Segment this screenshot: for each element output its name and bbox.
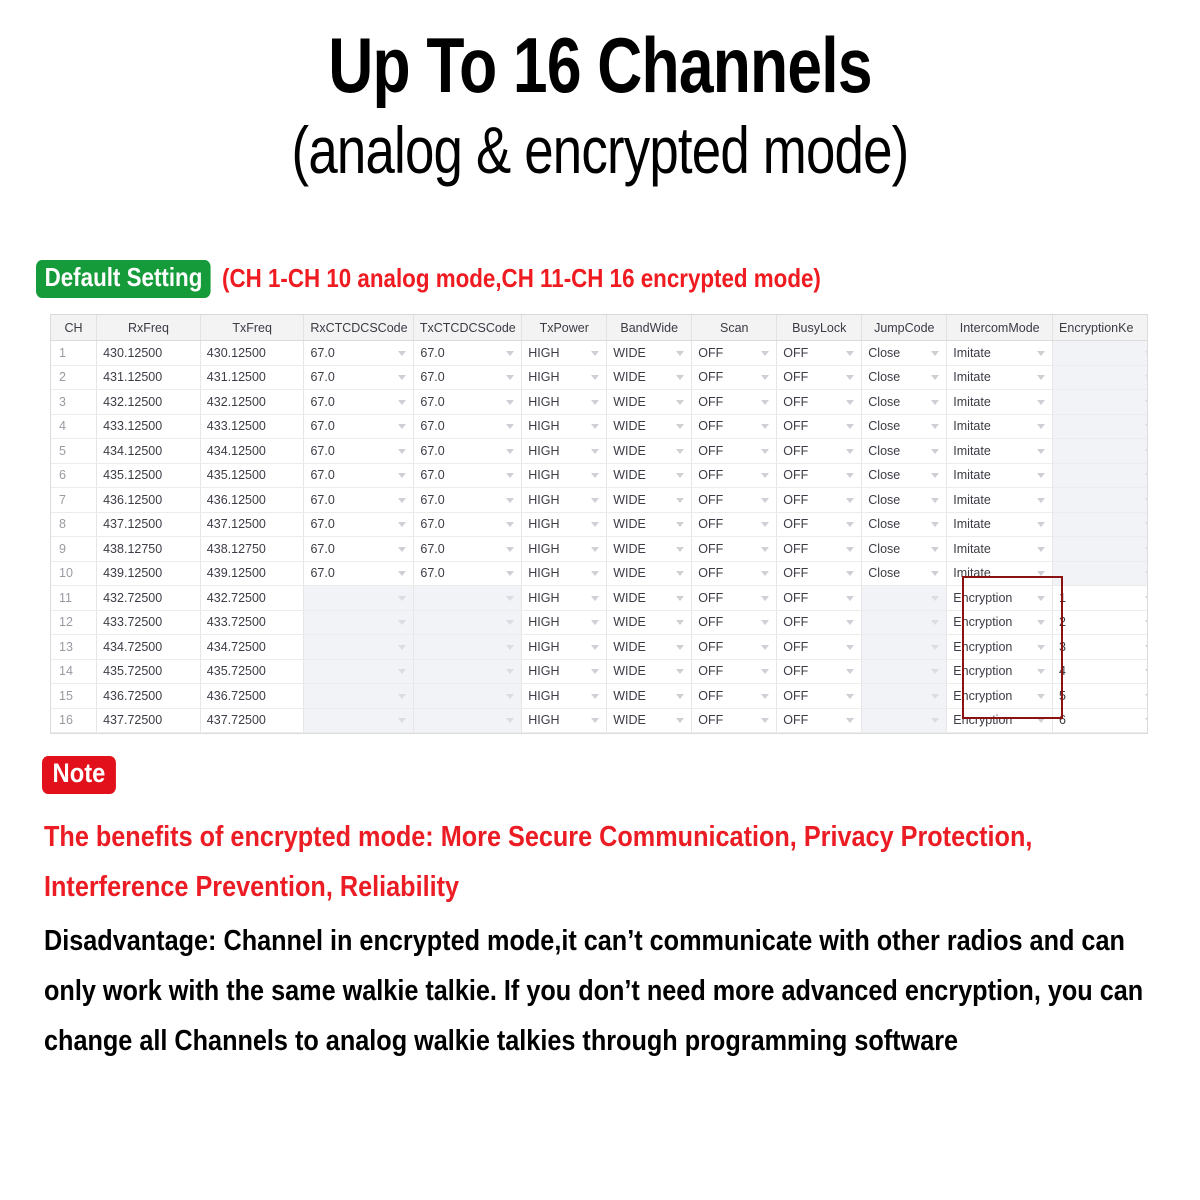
cell-rxfreq[interactable]: 435.12500 <box>97 463 201 488</box>
cell-encryptionkey[interactable] <box>1053 390 1148 415</box>
chevron-down-icon[interactable] <box>676 547 684 552</box>
chevron-down-icon[interactable] <box>506 571 514 576</box>
cell-scan[interactable]: OFF <box>692 365 777 390</box>
cell-busylock[interactable]: OFF <box>777 537 862 562</box>
table-row[interactable]: 15436.72500436.72500HIGHWIDEOFFOFFEncryp… <box>51 684 1148 709</box>
cell-rxctcdcscode[interactable]: 67.0 <box>304 439 414 464</box>
chevron-down-icon[interactable] <box>398 571 406 576</box>
cell-txctcdcscode[interactable] <box>414 659 522 684</box>
chevron-down-icon[interactable] <box>591 620 599 625</box>
chevron-down-icon[interactable] <box>846 473 854 478</box>
chevron-down-icon[interactable] <box>1145 620 1148 625</box>
cell-scan[interactable]: OFF <box>692 635 777 660</box>
chevron-down-icon[interactable] <box>398 645 406 650</box>
cell-txfreq[interactable]: 432.72500 <box>200 586 304 611</box>
cell-busylock[interactable]: OFF <box>777 341 862 366</box>
cell-txfreq[interactable]: 437.72500 <box>200 708 304 733</box>
chevron-down-icon[interactable] <box>398 473 406 478</box>
cell-scan[interactable]: OFF <box>692 610 777 635</box>
cell-jumpcode[interactable]: Close <box>862 561 947 586</box>
chevron-down-icon[interactable] <box>931 424 939 429</box>
chevron-down-icon[interactable] <box>846 571 854 576</box>
cell-encryptionkey[interactable] <box>1053 341 1148 366</box>
cell-encryptionkey[interactable] <box>1053 512 1148 537</box>
chevron-down-icon[interactable] <box>506 596 514 601</box>
cell-rxctcdcscode[interactable]: 67.0 <box>304 463 414 488</box>
chevron-down-icon[interactable] <box>761 473 769 478</box>
chevron-down-icon[interactable] <box>931 547 939 552</box>
cell-encryptionkey[interactable] <box>1053 537 1148 562</box>
cell-intercommode[interactable]: Encryption <box>947 586 1053 611</box>
chevron-down-icon[interactable] <box>1145 449 1148 454</box>
chevron-down-icon[interactable] <box>591 694 599 699</box>
chevron-down-icon[interactable] <box>506 669 514 674</box>
cell-rxctcdcscode[interactable]: 67.0 <box>304 414 414 439</box>
chevron-down-icon[interactable] <box>1037 547 1045 552</box>
cell-jumpcode[interactable] <box>862 586 947 611</box>
cell-scan[interactable]: OFF <box>692 659 777 684</box>
cell-txfreq[interactable]: 433.72500 <box>200 610 304 635</box>
chevron-down-icon[interactable] <box>931 498 939 503</box>
chevron-down-icon[interactable] <box>761 669 769 674</box>
chevron-down-icon[interactable] <box>761 424 769 429</box>
cell-encryptionkey[interactable]: 1 <box>1053 586 1148 611</box>
chevron-down-icon[interactable] <box>676 694 684 699</box>
chevron-down-icon[interactable] <box>398 498 406 503</box>
cell-rxctcdcscode[interactable]: 67.0 <box>304 561 414 586</box>
chevron-down-icon[interactable] <box>398 547 406 552</box>
cell-rxfreq[interactable]: 433.72500 <box>97 610 201 635</box>
cell-bandwide[interactable]: WIDE <box>607 439 692 464</box>
chevron-down-icon[interactable] <box>398 522 406 527</box>
cell-rxctcdcscode[interactable] <box>304 659 414 684</box>
chevron-down-icon[interactable] <box>591 718 599 723</box>
cell-encryptionkey[interactable] <box>1053 463 1148 488</box>
chevron-down-icon[interactable] <box>1037 473 1045 478</box>
chevron-down-icon[interactable] <box>1037 694 1045 699</box>
chevron-down-icon[interactable] <box>398 424 406 429</box>
chevron-down-icon[interactable] <box>931 449 939 454</box>
chevron-down-icon[interactable] <box>506 645 514 650</box>
col-header-txfreq[interactable]: TxFreq <box>200 315 304 341</box>
table-row[interactable]: 7436.12500436.1250067.067.0HIGHWIDEOFFOF… <box>51 488 1148 513</box>
cell-rxfreq[interactable]: 431.12500 <box>97 365 201 390</box>
chevron-down-icon[interactable] <box>1145 375 1148 380</box>
cell-busylock[interactable]: OFF <box>777 390 862 415</box>
chevron-down-icon[interactable] <box>591 571 599 576</box>
chevron-down-icon[interactable] <box>676 669 684 674</box>
cell-encryptionkey[interactable] <box>1053 488 1148 513</box>
col-header-txctcdcscode[interactable]: TxCTCDCSCode <box>414 315 522 341</box>
col-header-busylock[interactable]: BusyLock <box>777 315 862 341</box>
cell-bandwide[interactable]: WIDE <box>607 635 692 660</box>
cell-scan[interactable]: OFF <box>692 414 777 439</box>
chevron-down-icon[interactable] <box>846 351 854 356</box>
chevron-down-icon[interactable] <box>1145 571 1148 576</box>
cell-rxfreq[interactable]: 436.72500 <box>97 684 201 709</box>
cell-jumpcode[interactable] <box>862 659 947 684</box>
table-row[interactable]: 9438.12750438.1275067.067.0HIGHWIDEOFFOF… <box>51 537 1148 562</box>
chevron-down-icon[interactable] <box>676 522 684 527</box>
chevron-down-icon[interactable] <box>761 571 769 576</box>
table-row[interactable]: 3432.12500432.1250067.067.0HIGHWIDEOFFOF… <box>51 390 1148 415</box>
chevron-down-icon[interactable] <box>676 351 684 356</box>
cell-bandwide[interactable]: WIDE <box>607 463 692 488</box>
chevron-down-icon[interactable] <box>676 449 684 454</box>
chevron-down-icon[interactable] <box>931 694 939 699</box>
cell-busylock[interactable]: OFF <box>777 586 862 611</box>
cell-txpower[interactable]: HIGH <box>522 365 607 390</box>
chevron-down-icon[interactable] <box>591 669 599 674</box>
chevron-down-icon[interactable] <box>591 645 599 650</box>
cell-rxctcdcscode[interactable]: 67.0 <box>304 488 414 513</box>
cell-rxctcdcscode[interactable] <box>304 684 414 709</box>
cell-busylock[interactable]: OFF <box>777 414 862 439</box>
cell-busylock[interactable]: OFF <box>777 610 862 635</box>
cell-txctcdcscode[interactable] <box>414 708 522 733</box>
cell-txpower[interactable]: HIGH <box>522 610 607 635</box>
col-header-encryptionkey[interactable]: EncryptionKe <box>1053 315 1148 341</box>
chevron-down-icon[interactable] <box>506 620 514 625</box>
chevron-down-icon[interactable] <box>931 645 939 650</box>
cell-txctcdcscode[interactable]: 67.0 <box>414 463 522 488</box>
chevron-down-icon[interactable] <box>931 718 939 723</box>
cell-txctcdcscode[interactable] <box>414 684 522 709</box>
chevron-down-icon[interactable] <box>846 596 854 601</box>
chevron-down-icon[interactable] <box>506 375 514 380</box>
chevron-down-icon[interactable] <box>761 449 769 454</box>
cell-jumpcode[interactable]: Close <box>862 512 947 537</box>
cell-encryptionkey[interactable]: 2 <box>1053 610 1148 635</box>
chevron-down-icon[interactable] <box>846 449 854 454</box>
chevron-down-icon[interactable] <box>506 449 514 454</box>
chevron-down-icon[interactable] <box>591 351 599 356</box>
chevron-down-icon[interactable] <box>1037 498 1045 503</box>
cell-txfreq[interactable]: 431.12500 <box>200 365 304 390</box>
chevron-down-icon[interactable] <box>761 694 769 699</box>
cell-txctcdcscode[interactable]: 67.0 <box>414 390 522 415</box>
cell-rxfreq[interactable]: 437.12500 <box>97 512 201 537</box>
chevron-down-icon[interactable] <box>1145 351 1148 356</box>
chevron-down-icon[interactable] <box>1145 718 1148 723</box>
chevron-down-icon[interactable] <box>591 400 599 405</box>
cell-busylock[interactable]: OFF <box>777 463 862 488</box>
cell-txpower[interactable]: HIGH <box>522 684 607 709</box>
chevron-down-icon[interactable] <box>676 375 684 380</box>
chevron-down-icon[interactable] <box>846 547 854 552</box>
chevron-down-icon[interactable] <box>846 718 854 723</box>
cell-rxfreq[interactable]: 432.12500 <box>97 390 201 415</box>
chevron-down-icon[interactable] <box>1145 400 1148 405</box>
cell-intercommode[interactable]: Imitate <box>947 512 1053 537</box>
chevron-down-icon[interactable] <box>1037 424 1045 429</box>
chevron-down-icon[interactable] <box>931 375 939 380</box>
cell-bandwide[interactable]: WIDE <box>607 341 692 366</box>
cell-bandwide[interactable]: WIDE <box>607 561 692 586</box>
cell-bandwide[interactable]: WIDE <box>607 488 692 513</box>
cell-bandwide[interactable]: WIDE <box>607 390 692 415</box>
table-row[interactable]: 11432.72500432.72500HIGHWIDEOFFOFFEncryp… <box>51 586 1148 611</box>
chevron-down-icon[interactable] <box>591 547 599 552</box>
table-row[interactable]: 13434.72500434.72500HIGHWIDEOFFOFFEncryp… <box>51 635 1148 660</box>
chevron-down-icon[interactable] <box>931 473 939 478</box>
cell-rxctcdcscode[interactable]: 67.0 <box>304 537 414 562</box>
cell-intercommode[interactable]: Imitate <box>947 390 1053 415</box>
chevron-down-icon[interactable] <box>398 400 406 405</box>
cell-jumpcode[interactable] <box>862 610 947 635</box>
cell-busylock[interactable]: OFF <box>777 635 862 660</box>
cell-txfreq[interactable]: 436.12500 <box>200 488 304 513</box>
cell-busylock[interactable]: OFF <box>777 708 862 733</box>
cell-txpower[interactable]: HIGH <box>522 512 607 537</box>
table-row[interactable]: 1430.12500430.1250067.067.0HIGHWIDEOFFOF… <box>51 341 1148 366</box>
chevron-down-icon[interactable] <box>1037 620 1045 625</box>
cell-jumpcode[interactable]: Close <box>862 439 947 464</box>
cell-txctcdcscode[interactable]: 67.0 <box>414 341 522 366</box>
chevron-down-icon[interactable] <box>398 620 406 625</box>
chevron-down-icon[interactable] <box>931 596 939 601</box>
cell-jumpcode[interactable] <box>862 684 947 709</box>
chevron-down-icon[interactable] <box>1037 718 1045 723</box>
chevron-down-icon[interactable] <box>506 694 514 699</box>
col-header-rxfreq[interactable]: RxFreq <box>97 315 201 341</box>
cell-bandwide[interactable]: WIDE <box>607 512 692 537</box>
cell-txfreq[interactable]: 439.12500 <box>200 561 304 586</box>
chevron-down-icon[interactable] <box>676 596 684 601</box>
cell-scan[interactable]: OFF <box>692 512 777 537</box>
cell-busylock[interactable]: OFF <box>777 659 862 684</box>
cell-intercommode[interactable]: Imitate <box>947 365 1053 390</box>
cell-bandwide[interactable]: WIDE <box>607 365 692 390</box>
cell-jumpcode[interactable] <box>862 635 947 660</box>
cell-txctcdcscode[interactable]: 67.0 <box>414 512 522 537</box>
cell-scan[interactable]: OFF <box>692 684 777 709</box>
chevron-down-icon[interactable] <box>506 473 514 478</box>
cell-jumpcode[interactable]: Close <box>862 365 947 390</box>
cell-bandwide[interactable]: WIDE <box>607 414 692 439</box>
cell-jumpcode[interactable]: Close <box>862 390 947 415</box>
col-header-intercommode[interactable]: IntercomMode <box>947 315 1053 341</box>
cell-scan[interactable]: OFF <box>692 439 777 464</box>
cell-rxfreq[interactable]: 437.72500 <box>97 708 201 733</box>
chevron-down-icon[interactable] <box>846 645 854 650</box>
cell-bandwide[interactable]: WIDE <box>607 586 692 611</box>
chevron-down-icon[interactable] <box>761 351 769 356</box>
cell-scan[interactable]: OFF <box>692 561 777 586</box>
chevron-down-icon[interactable] <box>761 645 769 650</box>
cell-txpower[interactable]: HIGH <box>522 439 607 464</box>
chevron-down-icon[interactable] <box>931 522 939 527</box>
table-row[interactable]: 8437.12500437.1250067.067.0HIGHWIDEOFFOF… <box>51 512 1148 537</box>
cell-rxctcdcscode[interactable]: 67.0 <box>304 390 414 415</box>
chevron-down-icon[interactable] <box>761 375 769 380</box>
cell-busylock[interactable]: OFF <box>777 439 862 464</box>
table-row[interactable]: 16437.72500437.72500HIGHWIDEOFFOFFEncryp… <box>51 708 1148 733</box>
chevron-down-icon[interactable] <box>1145 424 1148 429</box>
cell-txfreq[interactable]: 436.72500 <box>200 684 304 709</box>
col-header-ch[interactable]: CH <box>51 315 97 341</box>
cell-scan[interactable]: OFF <box>692 586 777 611</box>
cell-txpower[interactable]: HIGH <box>522 537 607 562</box>
cell-txpower[interactable]: HIGH <box>522 635 607 660</box>
table-row[interactable]: 12433.72500433.72500HIGHWIDEOFFOFFEncryp… <box>51 610 1148 635</box>
cell-rxfreq[interactable]: 439.12500 <box>97 561 201 586</box>
chevron-down-icon[interactable] <box>506 351 514 356</box>
cell-encryptionkey[interactable]: 3 <box>1053 635 1148 660</box>
cell-rxctcdcscode[interactable] <box>304 635 414 660</box>
cell-busylock[interactable]: OFF <box>777 365 862 390</box>
chevron-down-icon[interactable] <box>591 424 599 429</box>
chevron-down-icon[interactable] <box>1145 669 1148 674</box>
cell-txpower[interactable]: HIGH <box>522 463 607 488</box>
cell-txfreq[interactable]: 435.72500 <box>200 659 304 684</box>
cell-txfreq[interactable]: 430.12500 <box>200 341 304 366</box>
chevron-down-icon[interactable] <box>591 473 599 478</box>
cell-bandwide[interactable]: WIDE <box>607 537 692 562</box>
cell-txpower[interactable]: HIGH <box>522 341 607 366</box>
cell-intercommode[interactable]: Imitate <box>947 341 1053 366</box>
cell-jumpcode[interactable]: Close <box>862 414 947 439</box>
cell-txfreq[interactable]: 432.12500 <box>200 390 304 415</box>
cell-scan[interactable]: OFF <box>692 341 777 366</box>
chevron-down-icon[interactable] <box>931 351 939 356</box>
chevron-down-icon[interactable] <box>676 645 684 650</box>
chevron-down-icon[interactable] <box>846 694 854 699</box>
chevron-down-icon[interactable] <box>398 669 406 674</box>
chevron-down-icon[interactable] <box>1037 522 1045 527</box>
cell-rxfreq[interactable]: 433.12500 <box>97 414 201 439</box>
col-header-txpower[interactable]: TxPower <box>522 315 607 341</box>
chevron-down-icon[interactable] <box>1145 645 1148 650</box>
cell-encryptionkey[interactable] <box>1053 365 1148 390</box>
cell-rxctcdcscode[interactable]: 67.0 <box>304 512 414 537</box>
cell-jumpcode[interactable]: Close <box>862 341 947 366</box>
chevron-down-icon[interactable] <box>761 400 769 405</box>
cell-txpower[interactable]: HIGH <box>522 561 607 586</box>
cell-intercommode[interactable]: Imitate <box>947 537 1053 562</box>
chevron-down-icon[interactable] <box>1145 498 1148 503</box>
cell-scan[interactable]: OFF <box>692 708 777 733</box>
chevron-down-icon[interactable] <box>761 547 769 552</box>
chevron-down-icon[interactable] <box>1037 375 1045 380</box>
chevron-down-icon[interactable] <box>846 498 854 503</box>
cell-bandwide[interactable]: WIDE <box>607 684 692 709</box>
cell-rxctcdcscode[interactable]: 67.0 <box>304 365 414 390</box>
cell-intercommode[interactable]: Imitate <box>947 463 1053 488</box>
chevron-down-icon[interactable] <box>676 620 684 625</box>
chevron-down-icon[interactable] <box>398 449 406 454</box>
cell-rxfreq[interactable]: 430.12500 <box>97 341 201 366</box>
table-row[interactable]: 5434.12500434.1250067.067.0HIGHWIDEOFFOF… <box>51 439 1148 464</box>
chevron-down-icon[interactable] <box>1145 547 1148 552</box>
chevron-down-icon[interactable] <box>506 424 514 429</box>
cell-rxfreq[interactable]: 434.12500 <box>97 439 201 464</box>
cell-busylock[interactable]: OFF <box>777 488 862 513</box>
chevron-down-icon[interactable] <box>1145 473 1148 478</box>
chevron-down-icon[interactable] <box>761 522 769 527</box>
cell-intercommode[interactable]: Imitate <box>947 414 1053 439</box>
chevron-down-icon[interactable] <box>761 596 769 601</box>
table-row[interactable]: 6435.12500435.1250067.067.0HIGHWIDEOFFOF… <box>51 463 1148 488</box>
cell-intercommode[interactable]: Imitate <box>947 561 1053 586</box>
chevron-down-icon[interactable] <box>1037 351 1045 356</box>
table-row[interactable]: 4433.12500433.1250067.067.0HIGHWIDEOFFOF… <box>51 414 1148 439</box>
cell-txctcdcscode[interactable]: 67.0 <box>414 537 522 562</box>
cell-rxctcdcscode[interactable] <box>304 610 414 635</box>
chevron-down-icon[interactable] <box>761 718 769 723</box>
cell-txfreq[interactable]: 437.12500 <box>200 512 304 537</box>
chevron-down-icon[interactable] <box>676 400 684 405</box>
chevron-down-icon[interactable] <box>591 522 599 527</box>
cell-rxfreq[interactable]: 438.12750 <box>97 537 201 562</box>
cell-jumpcode[interactable]: Close <box>862 463 947 488</box>
chevron-down-icon[interactable] <box>591 596 599 601</box>
chevron-down-icon[interactable] <box>1037 449 1045 454</box>
cell-txfreq[interactable]: 433.12500 <box>200 414 304 439</box>
chevron-down-icon[interactable] <box>398 694 406 699</box>
chevron-down-icon[interactable] <box>1145 522 1148 527</box>
col-header-rxctcdcscode[interactable]: RxCTCDCSCode <box>304 315 414 341</box>
chevron-down-icon[interactable] <box>846 400 854 405</box>
cell-scan[interactable]: OFF <box>692 488 777 513</box>
col-header-bandwide[interactable]: BandWide <box>607 315 692 341</box>
cell-rxctcdcscode[interactable] <box>304 586 414 611</box>
cell-txpower[interactable]: HIGH <box>522 488 607 513</box>
chevron-down-icon[interactable] <box>591 498 599 503</box>
cell-rxfreq[interactable]: 436.12500 <box>97 488 201 513</box>
table-row[interactable]: 14435.72500435.72500HIGHWIDEOFFOFFEncryp… <box>51 659 1148 684</box>
chevron-down-icon[interactable] <box>506 498 514 503</box>
chevron-down-icon[interactable] <box>398 718 406 723</box>
cell-rxctcdcscode[interactable]: 67.0 <box>304 341 414 366</box>
chevron-down-icon[interactable] <box>676 571 684 576</box>
cell-txfreq[interactable]: 438.12750 <box>200 537 304 562</box>
cell-rxfreq[interactable]: 434.72500 <box>97 635 201 660</box>
cell-txfreq[interactable]: 434.12500 <box>200 439 304 464</box>
chevron-down-icon[interactable] <box>1145 596 1148 601</box>
cell-jumpcode[interactable]: Close <box>862 488 947 513</box>
cell-busylock[interactable]: OFF <box>777 512 862 537</box>
cell-txpower[interactable]: HIGH <box>522 659 607 684</box>
cell-txctcdcscode[interactable]: 67.0 <box>414 365 522 390</box>
chevron-down-icon[interactable] <box>1037 669 1045 674</box>
cell-intercommode[interactable]: Imitate <box>947 488 1053 513</box>
chevron-down-icon[interactable] <box>846 522 854 527</box>
cell-intercommode[interactable]: Encryption <box>947 708 1053 733</box>
cell-scan[interactable]: OFF <box>692 463 777 488</box>
chevron-down-icon[interactable] <box>398 351 406 356</box>
cell-scan[interactable]: OFF <box>692 537 777 562</box>
chevron-down-icon[interactable] <box>398 375 406 380</box>
cell-bandwide[interactable]: WIDE <box>607 610 692 635</box>
chevron-down-icon[interactable] <box>761 620 769 625</box>
col-header-jumpcode[interactable]: JumpCode <box>862 315 947 341</box>
cell-busylock[interactable]: OFF <box>777 561 862 586</box>
chevron-down-icon[interactable] <box>846 669 854 674</box>
chevron-down-icon[interactable] <box>676 718 684 723</box>
chevron-down-icon[interactable] <box>1037 571 1045 576</box>
table-row[interactable]: 10439.12500439.1250067.067.0HIGHWIDEOFFO… <box>51 561 1148 586</box>
cell-txpower[interactable]: HIGH <box>522 414 607 439</box>
table-row[interactable]: 2431.12500431.1250067.067.0HIGHWIDEOFFOF… <box>51 365 1148 390</box>
cell-jumpcode[interactable]: Close <box>862 537 947 562</box>
chevron-down-icon[interactable] <box>506 400 514 405</box>
cell-txfreq[interactable]: 435.12500 <box>200 463 304 488</box>
cell-intercommode[interactable]: Imitate <box>947 439 1053 464</box>
cell-bandwide[interactable]: WIDE <box>607 659 692 684</box>
cell-txctcdcscode[interactable]: 67.0 <box>414 414 522 439</box>
chevron-down-icon[interactable] <box>931 669 939 674</box>
